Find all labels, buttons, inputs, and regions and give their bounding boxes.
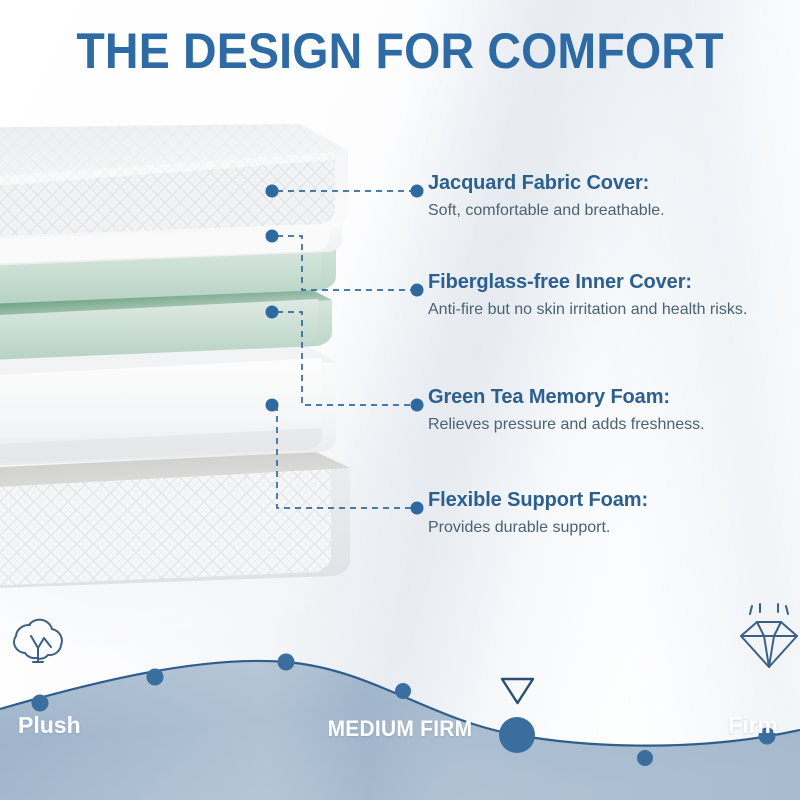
feature-description: Provides durable support.: [428, 516, 794, 541]
infographic-page: THE DESIGN FOR COMFORT: [0, 0, 800, 800]
feature-flexible-support-foam: Flexible Support Foam: Provides durable …: [428, 489, 794, 541]
feature-fiberglass-free-inner-cover: Fiberglass-free Inner Cover: Anti-fire b…: [428, 271, 794, 323]
feature-title: Jacquard Fabric Cover:: [428, 172, 794, 194]
feature-title: Green Tea Memory Foam:: [428, 386, 794, 408]
feature-title: Flexible Support Foam:: [428, 489, 794, 511]
feature-title: Fiberglass-free Inner Cover:: [428, 271, 794, 293]
fabric-drape-shadow-left: [0, 359, 375, 701]
page-title: THE DESIGN FOR COMFORT: [28, 22, 772, 80]
feature-jacquard-fabric-cover: Jacquard Fabric Cover: Soft, comfortable…: [428, 172, 794, 224]
feature-green-tea-memory-foam: Green Tea Memory Foam: Relieves pressure…: [428, 386, 794, 438]
feature-description: Relieves pressure and adds freshness.: [428, 413, 794, 438]
feature-description: Anti-fire but no skin irritation and hea…: [428, 298, 758, 323]
feature-description: Soft, comfortable and breathable.: [428, 199, 794, 224]
